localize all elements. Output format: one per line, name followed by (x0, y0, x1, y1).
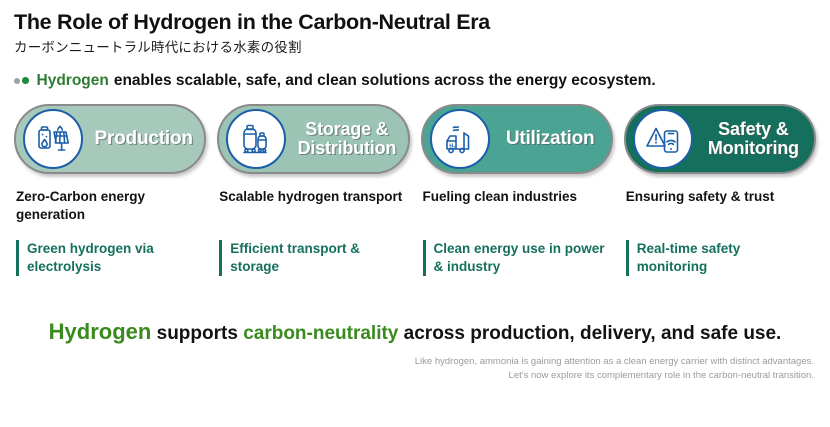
lead-statement: Hydrogen enables scalable, safe, and cle… (14, 71, 816, 90)
detail-note-utilization: Clean energy use in power & industry (423, 240, 611, 276)
detail-heading-production: Zero-Carbon energy generation (16, 188, 204, 224)
footnote-line-2: Let's now explore its complementary role… (14, 369, 814, 383)
lead-rest-text: enables scalable, safe, and clean soluti… (114, 71, 656, 90)
warning-triangle-phone-signal-icon (633, 109, 693, 169)
summary-tail-text: across production, delivery, and safe us… (404, 323, 782, 344)
card-production[interactable]: Production (14, 104, 206, 174)
detail-column-production: Zero-Carbon energy generation Green hydr… (14, 188, 206, 276)
footnote: Like hydrogen, ammonia is gaining attent… (14, 355, 816, 384)
detail-note-production: Green hydrogen via electrolysis (16, 240, 204, 276)
detail-note-storage-distribution: Efficient transport & storage (219, 240, 407, 276)
footnote-line-1: Like hydrogen, ammonia is gaining attent… (14, 355, 814, 369)
slide-root: The Role of Hydrogen in the Carbon-Neutr… (0, 0, 830, 427)
summary-strong-word: Hydrogen (49, 319, 152, 344)
card-utilization[interactable]: H 2 Utilization (421, 104, 613, 174)
card-label-utilization: Utilization (490, 129, 611, 149)
pill-safety-monitoring[interactable]: Safety & Monitoring (624, 104, 816, 174)
pill-row: Production (14, 104, 816, 174)
pill-utilization[interactable]: H 2 Utilization (421, 104, 613, 174)
detail-columns: Zero-Carbon energy generation Green hydr… (14, 188, 816, 276)
lead-accent-word: Hydrogen (37, 71, 109, 90)
summary-accent-word: carbon-neutrality (243, 323, 398, 344)
detail-note-safety-monitoring: Real-time safety monitoring (626, 240, 814, 276)
summary-statement: Hydrogen supports carbon-neutrality acro… (14, 318, 816, 346)
hydrogen-truck-factory-icon: H 2 (430, 109, 490, 169)
bullet-green-dot-icon (22, 77, 29, 84)
pill-storage-distribution[interactable]: Storage & Distribution (217, 104, 409, 174)
card-storage-distribution[interactable]: Storage & Distribution (217, 104, 409, 174)
detail-heading-safety-monitoring: Ensuring safety & trust (626, 188, 814, 224)
bullet-gray-dot-icon (14, 78, 20, 84)
hydrogen-tank-solar-panel-icon (23, 109, 83, 169)
page-title: The Role of Hydrogen in the Carbon-Neutr… (14, 0, 816, 35)
card-label-storage-distribution: Storage & Distribution (286, 120, 407, 158)
detail-column-utilization: Fueling clean industries Clean energy us… (421, 188, 613, 276)
card-label-safety-monitoring: Safety & Monitoring (693, 120, 814, 158)
detail-heading-utilization: Fueling clean industries (423, 188, 611, 224)
card-label-production: Production (83, 129, 204, 149)
pill-production[interactable]: Production (14, 104, 206, 174)
detail-column-storage-distribution: Scalable hydrogen transport Efficient tr… (217, 188, 409, 276)
card-safety-monitoring[interactable]: Safety & Monitoring (624, 104, 816, 174)
gas-cylinder-tank-icon (226, 109, 286, 169)
detail-heading-storage-distribution: Scalable hydrogen transport (219, 188, 407, 224)
detail-column-safety-monitoring: Ensuring safety & trust Real-time safety… (624, 188, 816, 276)
page-subtitle: カーボンニュートラル時代における水素の役割 (14, 40, 816, 56)
summary-mid-word: supports (157, 323, 238, 344)
